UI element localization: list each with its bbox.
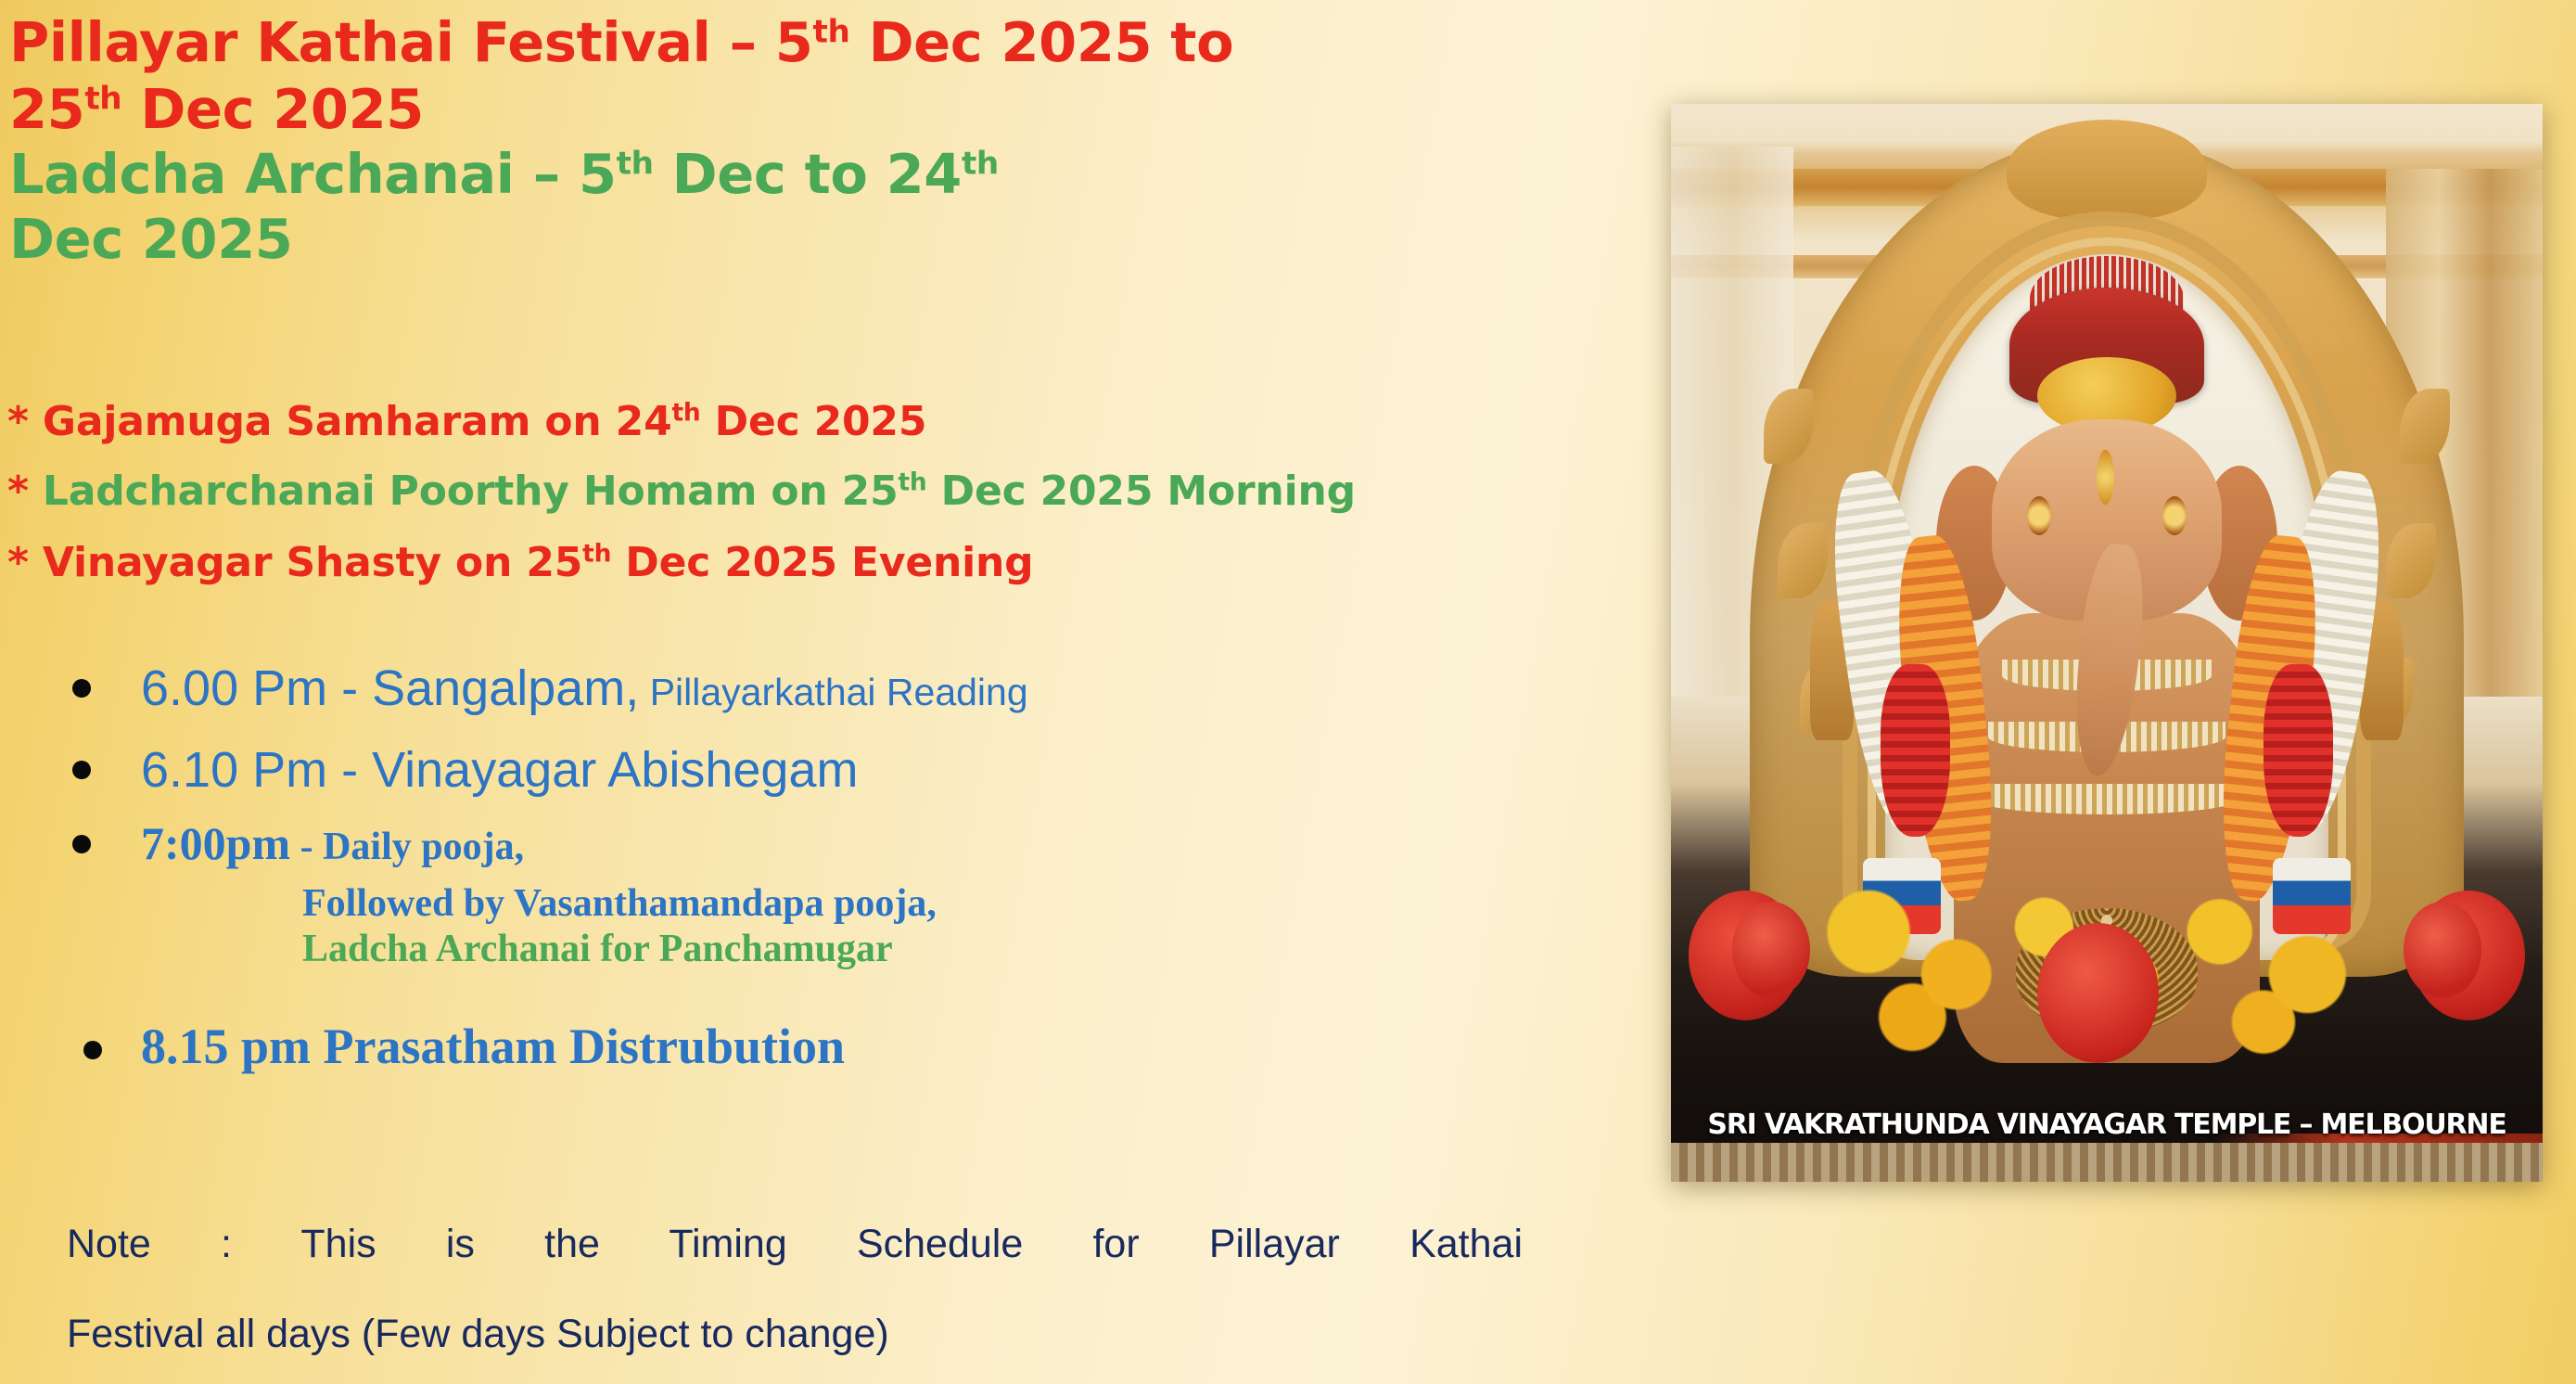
event-ladcharchanai-poorthy-homam: * Ladcharchanai Poorthy Homam on 25th De…	[0, 468, 1356, 515]
list-item: 6.10 Pm - Vinayagar Abishegam	[0, 731, 1632, 809]
arch-leaf-ornament	[2386, 523, 2436, 599]
archanai-title-line-1: Ladcha Archanai – 5th Dec to 24th	[0, 141, 999, 208]
arch-crown-ornament	[2007, 120, 2207, 221]
schedule-entry-3: 7:00pm - Daily pooja,	[0, 809, 1632, 881]
arch-leaf-ornament	[1778, 523, 1828, 599]
schedule-continuation-1: Followed by Vasanthamandapa pooja,	[0, 881, 1632, 927]
event-gajamuga-samharam: * Gajamuga Samharam on 24th Dec 2025	[0, 399, 926, 445]
event-text: Gajamuga Samharam on 24	[29, 398, 672, 445]
poster-canvas: Pillayar Kathai Festival – 5th Dec 2025 …	[0, 0, 2576, 1384]
title-text: Dec 2025 to	[849, 10, 1233, 74]
title-text: Dec 2025	[9, 207, 293, 271]
deity-tilak	[2097, 450, 2114, 505]
ordinal-suffix: th	[582, 539, 611, 568]
schedule-entry-4: 8.15 pm Prasatham Distrubution	[0, 1009, 1632, 1083]
list-item: 6.00 Pm - Sangalpam, Pillayarkathai Read…	[0, 649, 1632, 731]
temple-deity-photo: SRI VAKRATHUNDA VINAYAGAR TEMPLE – MELBO…	[1671, 104, 2543, 1182]
note-line-1: Note : This is the Timing Schedule for P…	[67, 1199, 1523, 1289]
red-rose-side-left	[1732, 902, 1811, 999]
bullet-dot-icon	[72, 761, 91, 779]
floor-mat-strip	[1671, 1143, 2543, 1182]
schedule-time-label: 6.00 Pm - Sangalpam,	[141, 660, 639, 716]
event-text: Ladcharchanai Poorthy Homam on 25	[29, 468, 899, 515]
red-garland-left	[1881, 664, 1950, 837]
event-text: Dec 2025	[701, 398, 927, 445]
asterisk-icon: *	[7, 398, 29, 445]
photo-caption: SRI VAKRATHUNDA VINAYAGAR TEMPLE – MELBO…	[1671, 1108, 2543, 1141]
asterisk-icon: *	[7, 468, 29, 515]
archanai-title-line-2: Dec 2025	[0, 206, 293, 273]
title-text: Pillayar Kathai Festival – 5	[9, 10, 813, 74]
asterisk-icon: *	[7, 539, 29, 586]
note-line-2: Festival all days (Few days Subject to c…	[67, 1289, 1523, 1379]
schedule-continuation-2: Ladcha Archanai for Panchamugar	[0, 927, 1632, 972]
note-block: Note : This is the Timing Schedule for P…	[67, 1199, 1523, 1379]
bullet-dot-icon	[72, 835, 91, 853]
schedule-detail-label: Pillayarkathai Reading	[639, 671, 1027, 713]
ordinal-suffix: th	[962, 145, 999, 182]
bullet-dot-icon	[72, 679, 91, 698]
red-garland-right	[2264, 664, 2333, 837]
event-vinayagar-shasty: * Vinayagar Shasty on 25th Dec 2025 Even…	[0, 540, 1033, 586]
festival-title-line-1: Pillayar Kathai Festival – 5th Dec 2025 …	[0, 9, 1233, 76]
schedule-time-label: 8.15 pm Prasatham Distrubution	[141, 1019, 845, 1074]
deity-eye-left	[2027, 496, 2051, 535]
title-text: Dec to 24	[654, 142, 962, 206]
red-rose-side-right	[2404, 902, 2482, 999]
schedule-entry-2: 6.10 Pm - Vinayagar Abishegam	[0, 731, 1632, 809]
ordinal-suffix: th	[617, 145, 654, 182]
schedule-entry-1: 6.00 Pm - Sangalpam, Pillayarkathai Read…	[0, 649, 1632, 731]
photo-caption-text: SRI VAKRATHUNDA VINAYAGAR TEMPLE – MELBO…	[1707, 1108, 2506, 1141]
title-text: Ladcha Archanai – 5	[9, 142, 617, 206]
red-rose-center	[2037, 923, 2160, 1063]
bullet-dot-icon	[83, 1041, 102, 1059]
schedule-time-label: 6.10 Pm - Vinayagar Abishegam	[141, 742, 858, 798]
deity-image: SRI VAKRATHUNDA VINAYAGAR TEMPLE – MELBO…	[1671, 104, 2543, 1182]
schedule-detail-label: - Daily pooja,	[290, 826, 524, 868]
ordinal-suffix: th	[899, 468, 927, 496]
list-item: 8.15 pm Prasatham Distrubution	[0, 1009, 1632, 1083]
title-text: 25	[9, 77, 84, 141]
list-item: 7:00pm - Daily pooja, Followed by Vasant…	[0, 809, 1632, 972]
ordinal-suffix: th	[813, 13, 850, 50]
schedule-time-label: 7:00pm	[141, 817, 290, 869]
schedule-list: 6.00 Pm - Sangalpam, Pillayarkathai Read…	[0, 649, 1632, 1083]
ordinal-suffix: th	[672, 398, 701, 427]
festival-title-line-2: 25th Dec 2025	[0, 76, 424, 143]
event-text: Vinayagar Shasty on 25	[29, 539, 582, 586]
text-column: Pillayar Kathai Festival – 5th Dec 2025 …	[0, 0, 1660, 1384]
title-text: Dec 2025	[121, 77, 424, 141]
ordinal-suffix: th	[84, 80, 121, 117]
event-text: Dec 2025 Evening	[611, 539, 1033, 586]
event-text: Dec 2025 Morning	[927, 468, 1356, 515]
